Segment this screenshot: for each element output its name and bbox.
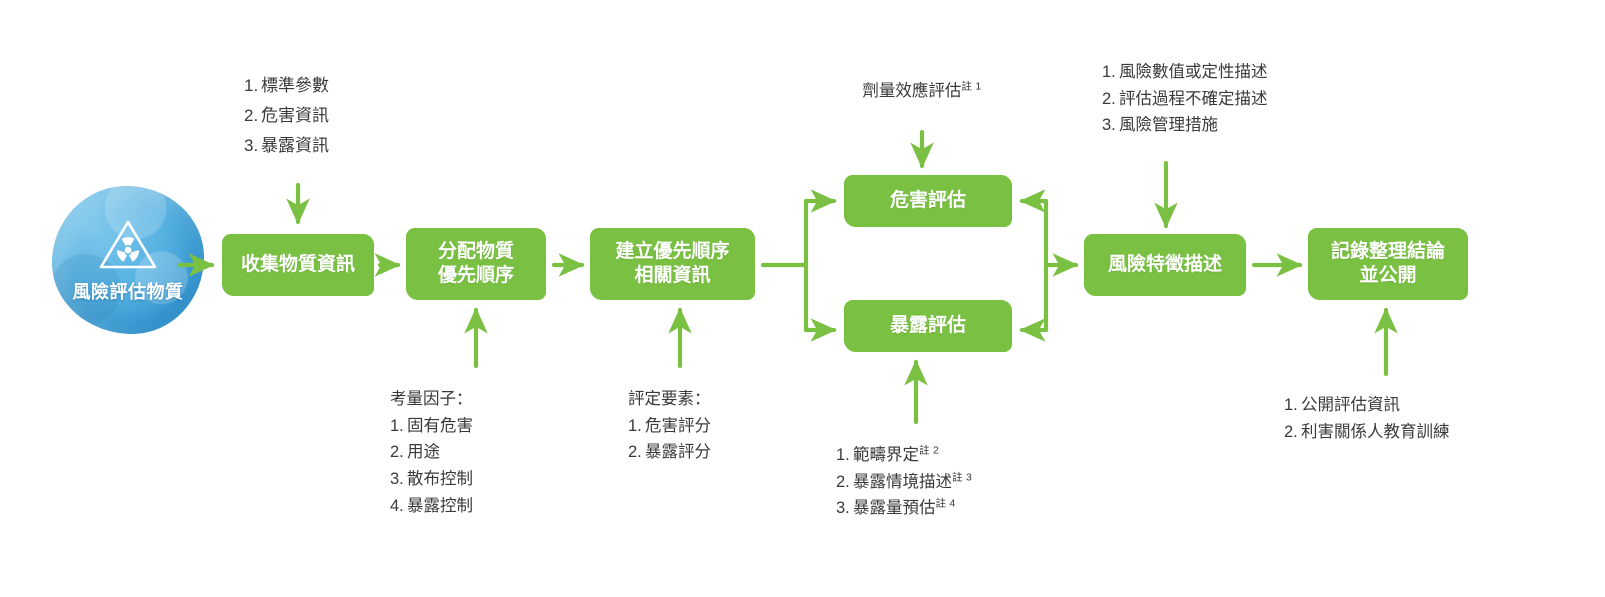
- list-item: 2.評估過程不確定描述: [1102, 86, 1292, 113]
- list-item-text: 危害資訊: [261, 106, 329, 125]
- list-item: 1.固有危害: [390, 413, 536, 440]
- footnote-marker: 註 3: [952, 471, 972, 483]
- list-item-text: 暴露情境描述: [853, 473, 952, 491]
- process-box-collect[interactable]: 收集物質資訊: [222, 234, 374, 296]
- list-item-number: 1.: [1102, 59, 1119, 86]
- start-node-risk-substance[interactable]: 風險評估物質: [52, 186, 204, 334]
- list-item-text: 標準參數: [261, 76, 329, 95]
- process-box-collect-label: 收集物質資訊: [241, 253, 355, 277]
- list-item: 3.風險管理措施: [1102, 112, 1292, 139]
- note-dose-response-body: 劑量效應評估註 1: [822, 58, 1022, 124]
- list-item-number: 2.: [836, 469, 853, 496]
- diagram-canvas: 風險評估物質 1.標準參數 2.危害資訊 3.暴露資訊 收集物質資訊 分配物質 …: [0, 0, 1605, 597]
- list-item-text: 暴露量預估: [853, 499, 936, 517]
- list-item-number: 3.: [1102, 112, 1119, 139]
- list-item-text: 評估過程不確定描述: [1119, 90, 1268, 108]
- list-item: 1.危害評分: [628, 413, 744, 440]
- list-item: 2.暴露評分: [628, 439, 744, 466]
- footnote-marker: 註 4: [936, 498, 956, 510]
- process-box-record-disclose[interactable]: 記錄整理結論 並公開: [1308, 228, 1468, 300]
- process-box-priority-label: 建立優先順序 相關資訊: [615, 240, 729, 289]
- list-item: 3.暴露資訊: [244, 131, 352, 161]
- process-box-hazard-assessment[interactable]: 危害評估: [844, 175, 1012, 227]
- note-risk-outputs: 1.風險數值或定性描述 2.評估過程不確定描述 3.風險管理措施: [1082, 45, 1310, 157]
- process-label-line2: 並公開: [1331, 264, 1445, 288]
- process-label-line1: 收集物質資訊: [241, 253, 355, 277]
- note-exposure-steps: 1.範疇界定註 2 2.暴露情境描述註 3 3.暴露量預估註 4: [810, 428, 1020, 536]
- note-exposure-steps-body: 1.範疇界定註 2 2.暴露情境描述註 3 3.暴露量預估註 4: [810, 428, 1020, 536]
- list-item: 2.用途: [390, 439, 536, 466]
- note-heading: 評定要素：: [628, 386, 744, 413]
- list-item: 1.公開評估資訊: [1284, 392, 1474, 419]
- list-item: 1.風險數值或定性描述: [1102, 59, 1292, 86]
- list-item-number: 3.: [836, 495, 853, 522]
- list-item-text: 利害關係人教育訓練: [1301, 423, 1450, 441]
- list-item: 3.暴露量預估註 4: [836, 495, 1002, 522]
- process-box-priority[interactable]: 建立優先順序 相關資訊: [590, 228, 755, 300]
- list-item-number: 1.: [836, 442, 853, 469]
- process-label-line1: 建立優先順序: [615, 240, 729, 264]
- list-item-number: 2.: [244, 101, 261, 131]
- process-box-risk-characterization[interactable]: 風險特徵描述: [1084, 234, 1246, 296]
- note-heading-text: 劑量效應評估: [862, 82, 961, 100]
- process-label-line2: 相關資訊: [615, 264, 729, 288]
- note-heading: 劑量效應評估註 1: [862, 78, 981, 105]
- note-elements-body: 評定要素： 1.危害評分 2.暴露評分: [604, 372, 762, 480]
- process-box-assign-label: 分配物質 優先順序: [438, 240, 514, 289]
- list-item-text: 範疇界定: [853, 446, 919, 464]
- note-disclosure-body: 1.公開評估資訊 2.利害關係人教育訓練: [1264, 380, 1492, 459]
- list-item-text: 風險管理措施: [1119, 116, 1218, 134]
- process-label-line1: 分配物質: [438, 240, 514, 264]
- process-label-line1: 暴露評估: [890, 314, 966, 338]
- list-item: 4.暴露控制: [390, 493, 536, 520]
- process-label-line1: 記錄整理結論: [1331, 240, 1445, 264]
- list-item-number: 1.: [244, 71, 261, 101]
- process-label-line2: 優先順序: [438, 264, 514, 288]
- list-item-text: 暴露控制: [407, 497, 473, 515]
- note-elements: 評定要素： 1.危害評分 2.暴露評分: [604, 372, 762, 480]
- start-node-label: 風險評估物質: [73, 278, 184, 304]
- list-item-number: 2.: [1284, 419, 1301, 446]
- footnote-marker: 註 1: [961, 80, 981, 92]
- list-item: 2.危害資訊: [244, 101, 352, 131]
- list-item-number: 3.: [390, 466, 407, 493]
- list-item-text: 風險數值或定性描述: [1119, 63, 1268, 81]
- list-item-number: 1.: [1284, 392, 1301, 419]
- list-item-text: 暴露資訊: [261, 136, 329, 155]
- process-box-exposure-assessment[interactable]: 暴露評估: [844, 300, 1012, 352]
- process-box-assign[interactable]: 分配物質 優先順序: [406, 228, 546, 300]
- list-item-number: 1.: [390, 413, 407, 440]
- list-item-text: 危害評分: [645, 417, 711, 435]
- note-risk-outputs-body: 1.風險數值或定性描述 2.評估過程不確定描述 3.風險管理措施: [1082, 45, 1310, 153]
- list-item-number: 2.: [1102, 86, 1119, 113]
- note-dose-response: 劑量效應評估註 1: [822, 58, 1022, 124]
- note-heading: 考量因子：: [390, 386, 536, 413]
- list-item-number: 4.: [390, 493, 407, 520]
- process-label-line1: 危害評估: [890, 189, 966, 213]
- list-item-number: 3.: [244, 131, 261, 161]
- note-factors: 考量因子： 1.固有危害 2.用途 3.散布控制 4.暴露控制: [362, 372, 554, 530]
- footnote-marker: 註 2: [919, 445, 939, 457]
- list-item-text: 固有危害: [407, 417, 473, 435]
- list-item-text: 暴露評分: [645, 443, 711, 461]
- note-disclosure: 1.公開評估資訊 2.利害關係人教育訓練: [1264, 380, 1492, 464]
- note-inputs: 1.標準參數 2.危害資訊 3.暴露資訊: [222, 55, 374, 164]
- list-item: 3.散布控制: [390, 466, 536, 493]
- list-item-number: 2.: [628, 439, 645, 466]
- list-item-text: 用途: [407, 443, 440, 461]
- list-item: 2.利害關係人教育訓練: [1284, 419, 1474, 446]
- note-factors-body: 考量因子： 1.固有危害 2.用途 3.散布控制 4.暴露控制: [362, 372, 554, 534]
- note-inputs-body: 1.標準參數 2.危害資訊 3.暴露資訊: [222, 55, 374, 176]
- list-item: 1.範疇界定註 2: [836, 442, 1002, 469]
- process-label-line1: 風險特徵描述: [1108, 253, 1222, 277]
- list-item: 2.暴露情境描述註 3: [836, 469, 1002, 496]
- radiation-hazard-icon: [97, 217, 159, 278]
- list-item-text: 散布控制: [407, 470, 473, 488]
- process-box-record-label: 記錄整理結論 並公開: [1331, 240, 1445, 289]
- list-item-number: 1.: [628, 413, 645, 440]
- list-item: 1.標準參數: [244, 71, 352, 101]
- list-item-text: 公開評估資訊: [1301, 396, 1400, 414]
- list-item-number: 2.: [390, 439, 407, 466]
